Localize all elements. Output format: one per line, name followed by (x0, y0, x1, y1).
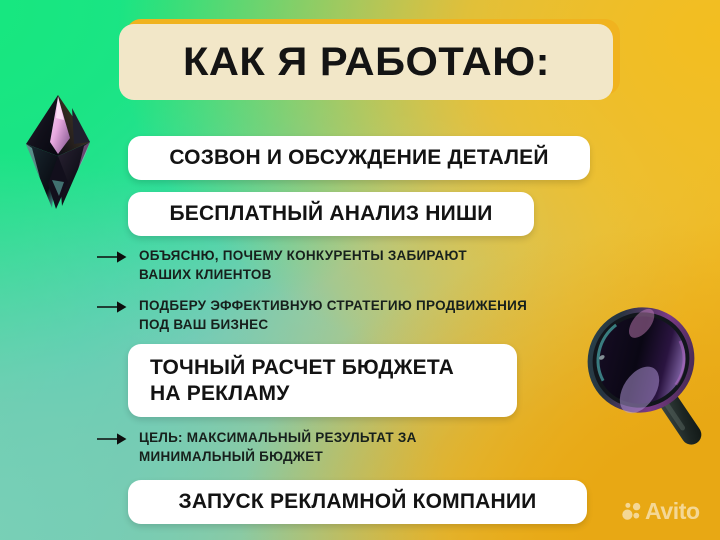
bullet-text-3: ЦЕЛЬ: МАКСИМАЛЬНЫЙ РЕЗУЛЬТАТ ЗА МИНИМАЛЬ… (139, 428, 417, 466)
avito-wordmark: Avito (645, 500, 700, 523)
title-card: КАК Я РАБОТАЮ: (119, 24, 613, 100)
arrow-right-icon (97, 298, 127, 316)
bullet-row-1: ОБЪЯСНЮ, ПОЧЕМУ КОНКУРЕНТЫ ЗАБИРАЮТ ВАШИ… (97, 246, 587, 284)
avito-logo-icon (622, 502, 641, 521)
step-card-2[interactable]: БЕСПЛАТНЫЙ АНАЛИЗ НИШИ (128, 192, 534, 236)
bullet-text-2: ПОДБЕРУ ЭФФЕКТИВНУЮ СТРАТЕГИЮ ПРОДВИЖЕНИ… (139, 296, 527, 334)
page-title: КАК Я РАБОТАЮ: (119, 24, 613, 100)
step-label-1: СОЗВОН И ОБСУЖДЕНИЕ ДЕТАЛЕЙ (169, 145, 548, 171)
step-card-3[interactable]: ТОЧНЫЙ РАСЧЕТ БЮДЖЕТА НА РЕКЛАМУ (128, 344, 517, 417)
step-label-2: БЕСПЛАТНЫЙ АНАЛИЗ НИШИ (169, 201, 492, 227)
step-label-4: ЗАПУСК РЕКЛАМНОЙ КОМПАНИИ (179, 489, 537, 515)
step-label-3: ТОЧНЫЙ РАСЧЕТ БЮДЖЕТА НА РЕКЛАМУ (150, 355, 454, 406)
arrow-right-icon (97, 248, 127, 266)
arrow-right-icon (97, 430, 127, 448)
poster: КАК Я РАБОТАЮ: СОЗВОН И ОБСУЖДЕНИЕ ДЕТАЛ… (0, 0, 720, 540)
step-card-4[interactable]: ЗАПУСК РЕКЛАМНОЙ КОМПАНИИ (128, 480, 587, 524)
title-text: КАК Я РАБОТАЮ: (182, 40, 549, 85)
bullet-row-2: ПОДБЕРУ ЭФФЕКТИВНУЮ СТРАТЕГИЮ ПРОДВИЖЕНИ… (97, 296, 617, 334)
bullet-row-3: ЦЕЛЬ: МАКСИМАЛЬНЫЙ РЕЗУЛЬТАТ ЗА МИНИМАЛЬ… (97, 428, 567, 466)
crystal-gem-icon (12, 92, 108, 212)
bullet-text-1: ОБЪЯСНЮ, ПОЧЕМУ КОНКУРЕНТЫ ЗАБИРАЮТ ВАШИ… (139, 246, 467, 284)
step-card-1[interactable]: СОЗВОН И ОБСУЖДЕНИЕ ДЕТАЛЕЙ (128, 136, 590, 180)
avito-watermark: Avito (622, 500, 700, 523)
